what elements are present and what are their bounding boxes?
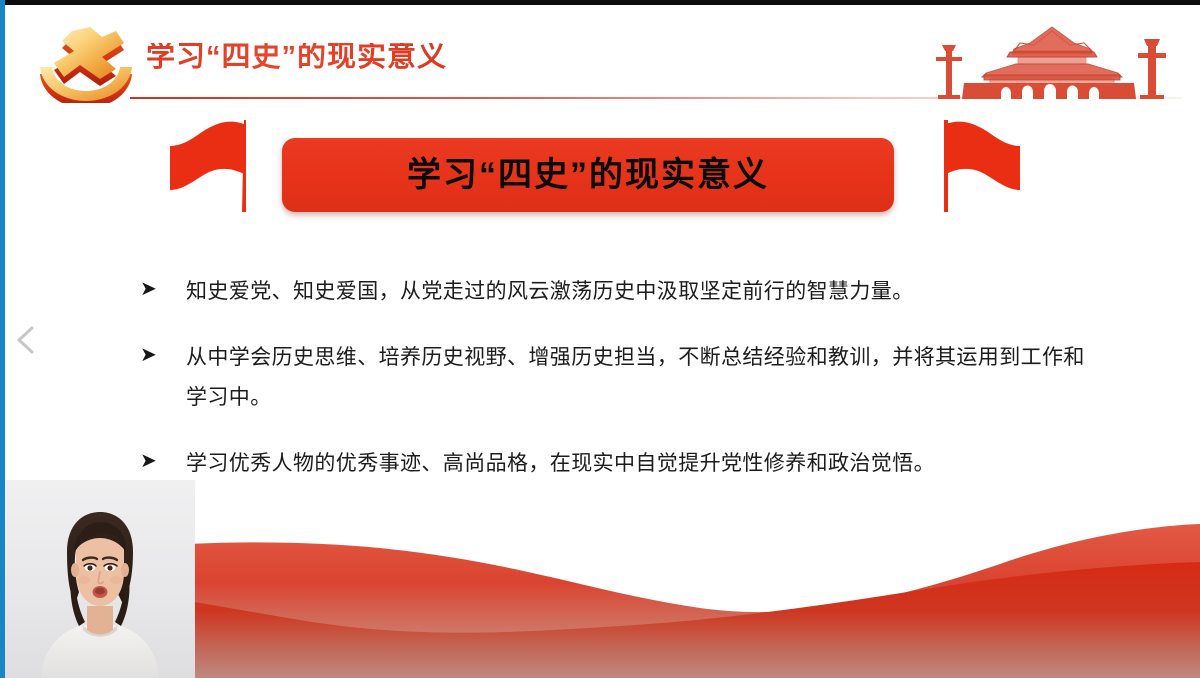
list-item: ➤ 知史爱党、知史爱国，从党走过的风云激荡历史中汲取坚定前行的智慧力量。 (140, 272, 1100, 312)
list-item: ➤ 从中学会历史思维、培养历史视野、增强历史担当，不断总结经验和教训，并将其运用… (140, 338, 1100, 418)
tiananmen-gate-icon (922, 17, 1182, 103)
red-flag-icon (158, 116, 266, 216)
bullet-arrow-icon: ➤ (140, 338, 186, 372)
header-title: 学习“四史”的现实意义 (146, 43, 447, 72)
chevron-left-icon[interactable] (10, 322, 42, 358)
list-item-text: 知史爱党、知史爱国，从党走过的风云激荡历史中汲取坚定前行的智慧力量。 (186, 272, 1100, 312)
red-flag-icon (932, 116, 1032, 216)
slide-root: 学习“四史”的现实意义 (0, 0, 1200, 678)
list-item-text: 从中学会历史思维、培养历史视野、增强历史担当，不断总结经验和教训，并将其运用到工… (186, 338, 1100, 418)
title-banner-plate: 学习“四史”的现实意义 (282, 138, 894, 212)
slide-header: 学习“四史”的现实意义 (0, 5, 1200, 105)
presenter-video-overlay[interactable] (5, 480, 195, 678)
bullet-list: ➤ 知史爱党、知史爱国，从党走过的风云激荡历史中汲取坚定前行的智慧力量。 ➤ 从… (140, 272, 1100, 484)
party-hammer-sickle-emblem-icon (28, 21, 144, 103)
title-banner-zone: 学习“四史”的现实意义 (0, 112, 1200, 224)
banner-title-text: 学习“四史”的现实意义 (407, 158, 769, 192)
window-left-edge (0, 0, 5, 678)
list-item: ➤ 学习优秀人物的优秀事迹、高尚品格，在现实中自觉提升党性修养和政治觉悟。 (140, 444, 1100, 484)
bullet-arrow-icon: ➤ (140, 444, 186, 478)
window-top-edge (0, 0, 1200, 5)
bullet-arrow-icon: ➤ (140, 272, 186, 306)
list-item-text: 学习优秀人物的优秀事迹、高尚品格，在现实中自觉提升党性修养和政治觉悟。 (186, 444, 1100, 484)
